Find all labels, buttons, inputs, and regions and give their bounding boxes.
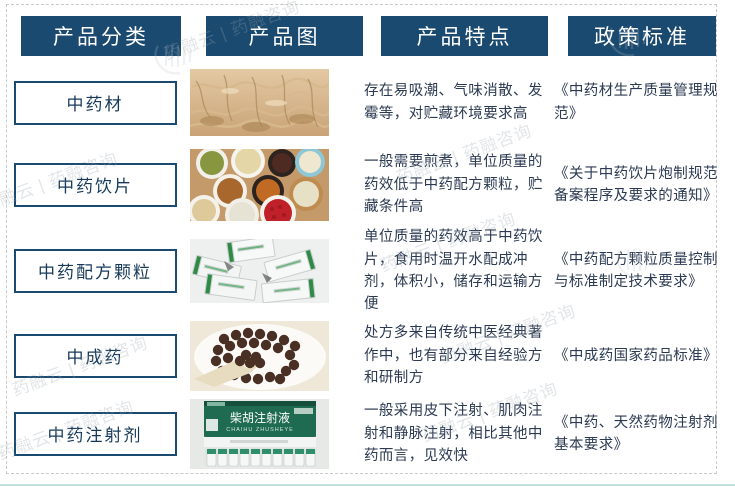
table-row: 中成药 — [0, 317, 735, 395]
product-image-cell — [190, 239, 362, 303]
policy-text-5: 《中药、天然药物注射剂基本要求》 — [550, 412, 735, 457]
table-row: 中药配方颗粒 — [0, 225, 735, 317]
category-label-zhongchengyao[interactable]: 中成药 — [14, 334, 177, 378]
product-image-cell — [190, 321, 362, 391]
product-comparison-table: 产品分类 产品图 产品特点 政策标准 中药材 — [0, 0, 735, 488]
features-text-4: 处方多来自传统中医经典著作中，也有部分来自经验方和研制方 — [362, 322, 550, 389]
features-text-2: 一般需要煎煮，单位质量的药效低于中药配方颗粒，贮藏条件高 — [362, 151, 550, 218]
product-image-cell — [190, 69, 362, 136]
policy-text-1: 《中药材生产质量管理规范》 — [550, 80, 735, 125]
category-cell: 中药配方颗粒 — [0, 249, 190, 293]
table-body: 中药材 — [0, 60, 735, 473]
category-cell: 中药注射剂 — [0, 412, 190, 456]
header-policy-standard[interactable]: 政策标准 — [568, 16, 716, 56]
herbal-pills-with-spoon-photo — [190, 321, 329, 391]
category-cell: 中药材 — [0, 81, 190, 125]
chaihu-injection-box-photo: 柴胡注射液 CHAIHU ZHUSHEYE — [190, 399, 329, 469]
header-product-category[interactable]: 产品分类 — [21, 16, 181, 56]
policy-text-3: 《中药配方颗粒质量控制与标准制定技术要求》 — [550, 249, 735, 294]
dried-herbal-roots-photo — [190, 69, 329, 136]
category-label-keli[interactable]: 中药配方颗粒 — [14, 249, 177, 293]
granule-sachets-photo — [190, 239, 329, 303]
assorted-herb-bowls-photo — [190, 149, 329, 221]
injection-box-pinyin-label: CHAIHU ZHUSHEYE — [226, 427, 294, 433]
product-image-cell — [190, 149, 362, 221]
table-row: 中药饮片 — [0, 145, 735, 225]
header-product-image[interactable]: 产品图 — [206, 16, 363, 56]
injection-box-cn-label: 柴胡注射液 — [230, 410, 290, 425]
table-row: 中药注射剂 柴胡注射液 CHAIHU ZHUSHEYE — [0, 395, 735, 473]
category-cell: 中药饮片 — [0, 163, 190, 207]
category-cell: 中成药 — [0, 334, 190, 378]
table-header-row: 产品分类 产品图 产品特点 政策标准 — [0, 16, 735, 56]
header-product-features[interactable]: 产品特点 — [381, 16, 548, 56]
features-text-1: 存在易吸潮、气味消散、发霉等，对贮藏环境要求高 — [362, 80, 550, 125]
features-text-3: 单位质量的药效高于中药饮片，食用时温开水配成冲剂，体积小，储存和运输方便 — [362, 226, 550, 316]
category-label-yinpian[interactable]: 中药饮片 — [14, 163, 177, 207]
product-image-cell: 柴胡注射液 CHAIHU ZHUSHEYE — [190, 399, 362, 469]
features-text-5: 一般采用皮下注射、肌肉注射和静脉注射，相比其他中药而言，见效快 — [362, 400, 550, 467]
category-label-zhusheji[interactable]: 中药注射剂 — [14, 412, 177, 456]
policy-text-2: 《关于中药饮片炮制规范备案程序及要求的通知》 — [550, 163, 735, 208]
table-row: 中药材 — [0, 60, 735, 145]
category-label-zhongyaocai[interactable]: 中药材 — [14, 81, 177, 125]
policy-text-4: 《中成药国家药品标准》 — [550, 345, 735, 367]
